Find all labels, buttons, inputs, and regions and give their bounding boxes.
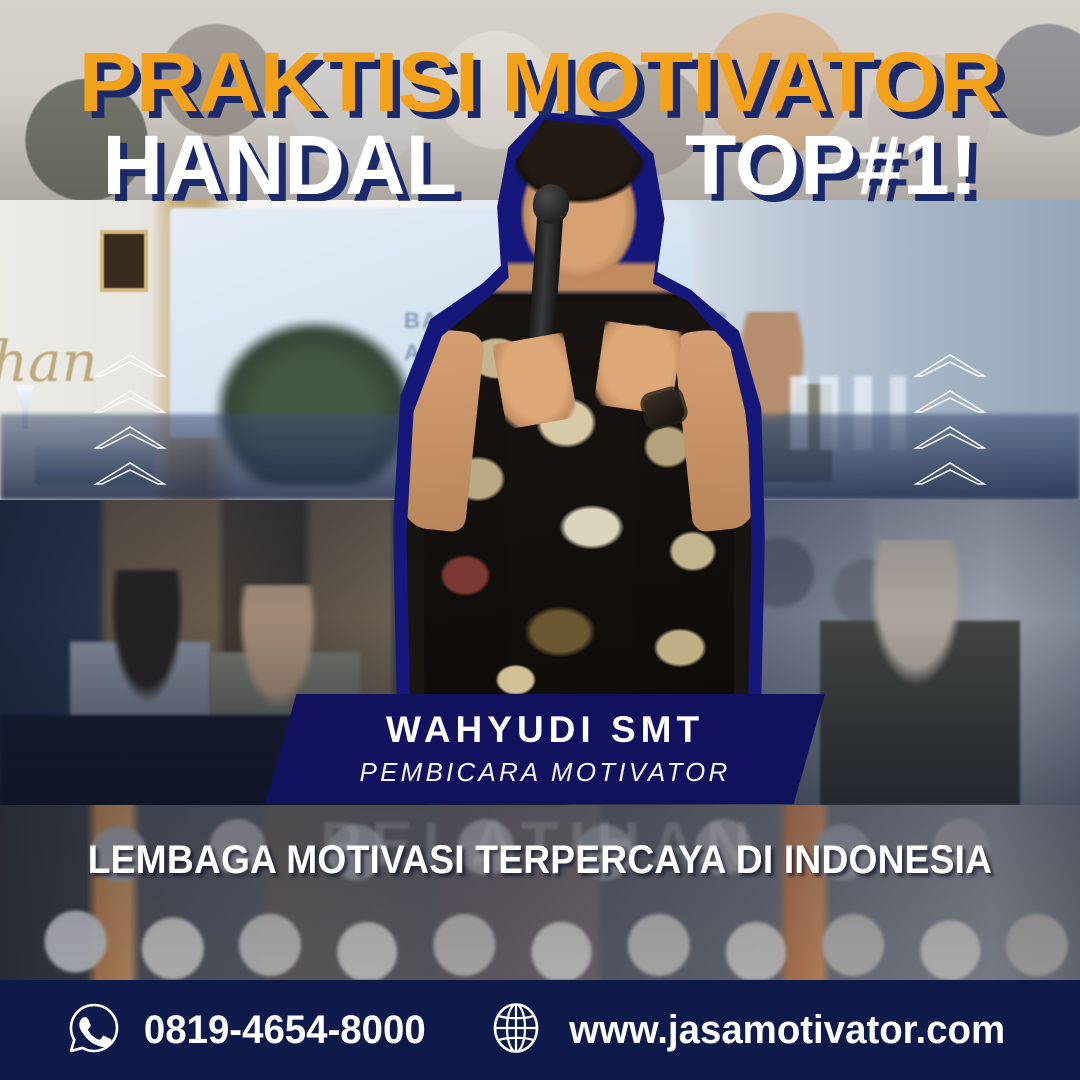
chevron-stack-left bbox=[92, 352, 168, 492]
speaker-name-ribbon: WAHYUDI SMT PEMBICARA MOTIVATOR bbox=[265, 694, 825, 804]
chevron-up-icon bbox=[912, 352, 988, 378]
website-url-text: www.jasamotivator.com bbox=[569, 1008, 1005, 1053]
interviewer-figure bbox=[70, 570, 210, 805]
contact-website[interactable]: www.jasamotivator.com bbox=[488, 1000, 1014, 1061]
chevron-up-icon bbox=[92, 460, 168, 486]
phone-number-text: 0819-4654-8000 bbox=[144, 1008, 426, 1053]
photo-band-group-photo: PELATIHAN bbox=[0, 805, 1080, 980]
globe-icon bbox=[488, 1000, 544, 1061]
speaker-left-hand bbox=[492, 332, 578, 429]
chevron-up-icon bbox=[912, 460, 988, 486]
potted-plant bbox=[215, 320, 415, 485]
headline-line-2-left: HANDAL bbox=[102, 117, 457, 214]
backdrop-script-text: han bbox=[0, 330, 98, 395]
wall-portrait-frame bbox=[100, 230, 148, 292]
chevron-stack-right bbox=[912, 352, 988, 492]
whatsapp-icon bbox=[66, 1000, 122, 1061]
footer-contact-bar: 0819-4654-8000 www.jasamotivator.com bbox=[0, 980, 1080, 1080]
speaker-role: PEMBICARA MOTIVATOR bbox=[360, 757, 731, 788]
chevron-up-icon bbox=[912, 424, 988, 450]
promo-poster: han BAGAIMANA KABARNYA ? ALHAMDULILLAH S… bbox=[0, 0, 1080, 1080]
contact-phone[interactable]: 0819-4654-8000 bbox=[66, 1000, 432, 1061]
chevron-up-icon bbox=[92, 424, 168, 450]
elder-participant-figure bbox=[820, 540, 1020, 805]
chevron-up-icon bbox=[92, 388, 168, 414]
headline-line-2-right: TOP#1! bbox=[685, 117, 978, 214]
chevron-up-icon bbox=[92, 352, 168, 378]
headline-line-2: HANDALTOP#1! bbox=[0, 117, 1080, 214]
chevron-up-icon bbox=[912, 388, 988, 414]
tagline-text: LEMBAGA MOTIVASI TERPERCAYA DI INDONESIA bbox=[38, 838, 1042, 883]
speaker-name: WAHYUDI SMT bbox=[386, 710, 704, 750]
